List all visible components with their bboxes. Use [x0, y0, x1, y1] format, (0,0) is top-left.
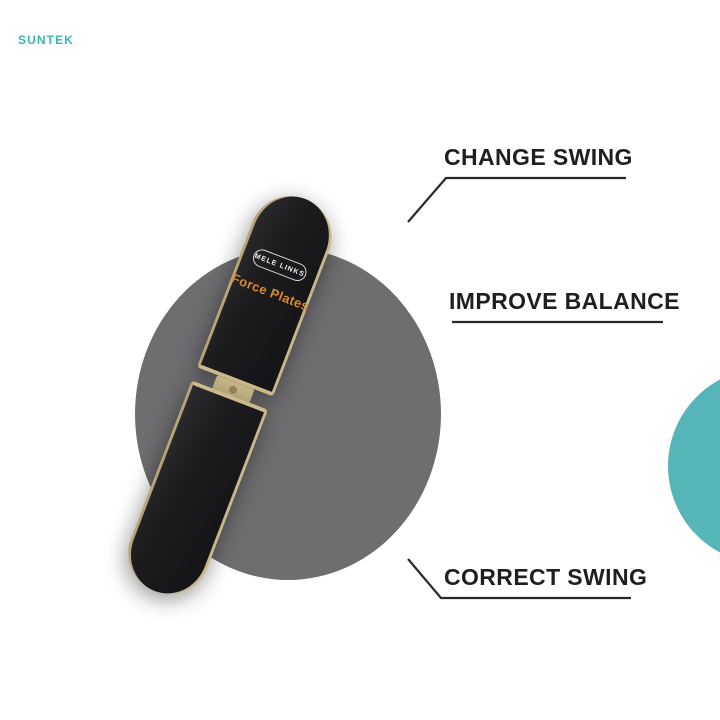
product-feature-graphic: SUNTEK MELE LINKS Force Plates CHANGE SW… [0, 0, 720, 720]
leader-line-change-swing [408, 178, 626, 222]
brand-logo: SUNTEK [18, 33, 74, 47]
callout-improve-balance-label: IMPROVE BALANCE [449, 288, 680, 315]
callout-improve-balance: IMPROVE BALANCE [449, 288, 680, 315]
callout-change-swing-label: CHANGE SWING [444, 144, 633, 171]
teal-circle-accent [668, 368, 720, 564]
callout-correct-swing-label: CORRECT SWING [444, 564, 647, 591]
callout-change-swing: CHANGE SWING [444, 144, 633, 171]
callout-correct-swing: CORRECT SWING [444, 564, 647, 591]
